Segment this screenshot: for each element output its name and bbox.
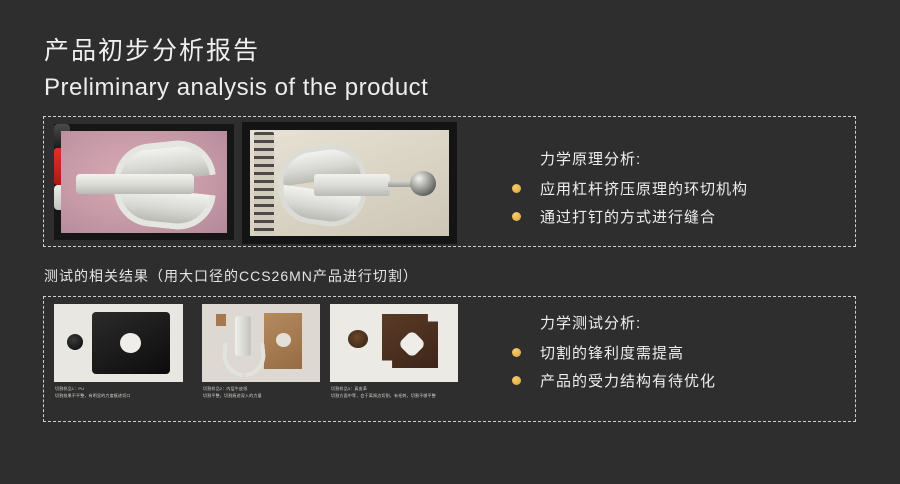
- tool-barrel: [76, 174, 194, 194]
- test-photo-tool-with-sample: [202, 304, 320, 382]
- page-title: 产品初步分析报告 Preliminary analysis of the pro…: [44, 36, 428, 103]
- bullet-dot-icon: [512, 212, 521, 221]
- title-english: Preliminary analysis of the product: [44, 72, 428, 103]
- caption-line: 切割方面中等，会于离周边切割，有毛刺，切割不够平整: [331, 393, 436, 400]
- presentation-slide: 产品初步分析报告 Preliminary analysis of the pro…: [0, 0, 900, 484]
- title-chinese: 产品初步分析报告: [44, 36, 428, 67]
- product-photo-on-notebook: [242, 122, 457, 244]
- note-label: 应用杠杆挤压原理的环切机构: [540, 178, 748, 199]
- cut-plug: [67, 334, 83, 350]
- caption-line: 切割平整，切割痕迹深入的力量: [203, 393, 262, 400]
- bullet-dot-icon: [512, 348, 521, 357]
- test-photo-brown-leather-sample: [330, 304, 458, 382]
- note-label: 通过打钉的方式进行缝合: [540, 206, 716, 227]
- test-photo-black-sample: [54, 304, 183, 382]
- mechanics-test-notes: 力学测试分析: 切割的锋利度需提高 产品的受力结构有待优化: [512, 312, 716, 398]
- material-chip: [216, 314, 226, 326]
- note-label: 切割的锋利度需提高: [540, 342, 684, 363]
- bullet-dot-icon: [512, 184, 521, 193]
- photo-caption: 切割样品1：PU 切割效果不平整，有明显的力度痕迹切口: [55, 386, 131, 400]
- caption-line: 切割样品2：内层牛皮纸: [203, 386, 262, 393]
- bullet-dot-icon: [512, 376, 521, 385]
- caption-line: 切割效果不平整，有明显的力度痕迹切口: [55, 393, 131, 400]
- caption-line: 切割样品3：真皮革: [331, 386, 436, 393]
- caption-line: 切割样品1：PU: [55, 386, 131, 393]
- photo-caption: 切割样品2：内层牛皮纸 切割平整，切割痕迹深入的力量: [203, 386, 262, 400]
- mechanics-principle-notes: 力学原理分析: 应用杠杆挤压原理的环切机构 通过打钉的方式进行缝合: [512, 148, 748, 234]
- photo-caption: 切割样品3：真皮革 切割方面中等，会于离周边切割，有毛刺，切割不够平整: [331, 386, 436, 400]
- note-label: 产品的受力结构有待优化: [540, 370, 716, 391]
- cut-plug: [348, 330, 368, 348]
- note-item: 应用杠杆挤压原理的环切机构: [512, 178, 748, 199]
- note-item: 产品的受力结构有待优化: [512, 370, 716, 391]
- section-heading: 测试的相关结果（用大口径的CCS26MN产品进行切割）: [44, 266, 418, 286]
- tool-barrel: [314, 174, 390, 196]
- notes-heading: 力学测试分析:: [540, 312, 716, 333]
- cut-hole: [120, 333, 141, 353]
- notebook-spiral-binding: [254, 132, 274, 234]
- tool-knob: [410, 171, 436, 196]
- cut-hole: [276, 333, 291, 347]
- product-photo-pink-background: [54, 124, 234, 240]
- notes-heading: 力学原理分析:: [540, 148, 748, 169]
- tool-barrel: [235, 316, 251, 356]
- note-item: 通过打钉的方式进行缝合: [512, 206, 748, 227]
- note-item: 切割的锋利度需提高: [512, 342, 716, 363]
